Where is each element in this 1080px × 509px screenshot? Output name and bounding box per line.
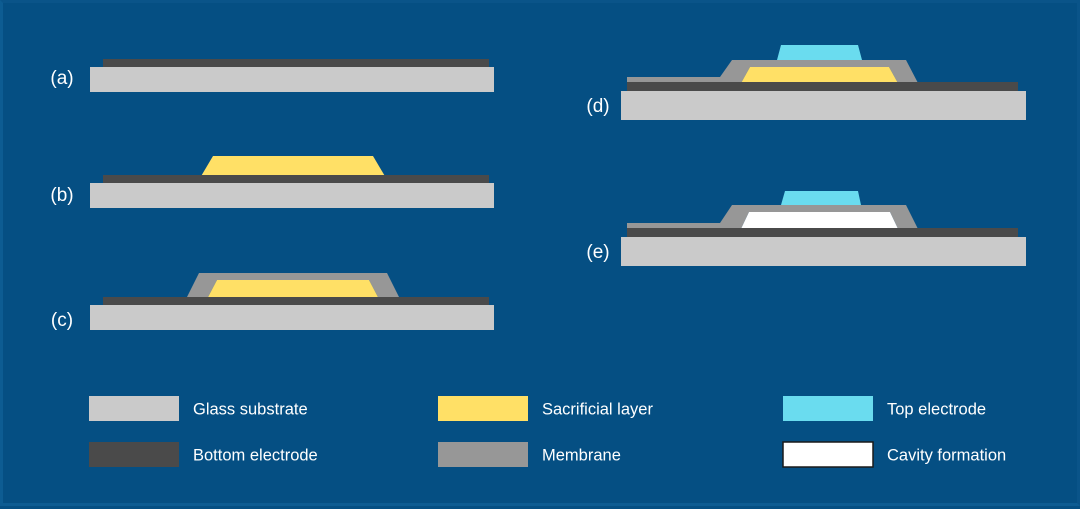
legend-label-bottom-electrode: Bottom electrode	[193, 446, 318, 464]
bottom-electrode-swatch	[89, 442, 179, 467]
panel-b-glass-substrate	[90, 183, 494, 208]
legend-item-bottom-electrode: Bottom electrode	[89, 442, 318, 467]
panel-b: (b)	[50, 156, 494, 208]
panel-b-sacrificial-layer	[200, 156, 386, 178]
legend-item-membrane: Membrane	[438, 442, 621, 467]
panel-a-label: (a)	[50, 68, 73, 89]
panel-c: (c)	[51, 273, 494, 331]
cavity-formation-swatch	[783, 442, 873, 467]
panel-e-top-electrode	[781, 191, 861, 205]
legend: Glass substrate Bottom electrode Sacrifi…	[89, 396, 1006, 467]
figure-canvas: (a) (b) (c) (d)	[0, 0, 1080, 506]
panel-a-glass-substrate	[90, 67, 494, 92]
panel-b-label: (b)	[50, 185, 73, 206]
membrane-swatch	[438, 442, 528, 467]
legend-item-top-electrode: Top electrode	[783, 396, 986, 421]
panel-d-glass-substrate	[621, 91, 1026, 120]
panel-e-label: (e)	[586, 242, 609, 263]
sacrificial-layer-swatch	[438, 396, 528, 421]
panel-c-glass-substrate	[90, 305, 494, 330]
legend-label-glass-substrate: Glass substrate	[193, 400, 308, 418]
panel-a: (a)	[50, 59, 494, 92]
legend-label-top-electrode: Top electrode	[887, 400, 986, 418]
top-electrode-swatch	[783, 396, 873, 421]
legend-item-glass-substrate: Glass substrate	[89, 396, 308, 421]
panel-c-label: (c)	[51, 310, 73, 331]
glass-substrate-swatch	[89, 396, 179, 421]
panel-d: (d)	[586, 45, 1026, 120]
legend-label-cavity-formation: Cavity formation	[887, 446, 1006, 464]
panel-e: (e)	[586, 191, 1026, 266]
legend-label-membrane: Membrane	[542, 446, 621, 464]
legend-label-sacrificial-layer: Sacrificial layer	[542, 400, 653, 418]
legend-item-sacrificial-layer: Sacrificial layer	[438, 396, 653, 421]
panel-d-label: (d)	[586, 96, 609, 117]
legend-item-cavity-formation: Cavity formation	[783, 442, 1006, 467]
process-flow-diagram: (a) (b) (c) (d)	[3, 3, 1080, 509]
panel-e-glass-substrate	[621, 237, 1026, 266]
panel-d-top-electrode	[777, 45, 862, 60]
